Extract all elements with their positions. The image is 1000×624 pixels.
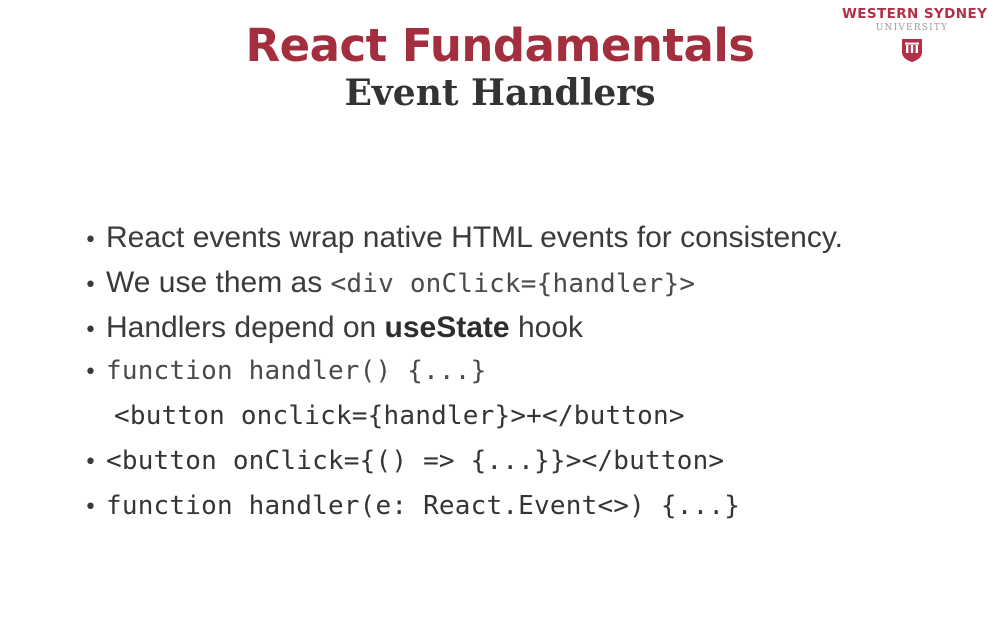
logo-primary-text: WESTERN SYDNEY: [842, 8, 982, 22]
text-span: useState: [385, 311, 510, 344]
bullet-text: React events wrap native HTML events for…: [106, 221, 843, 255]
bullet-text: <button onClick={() => {...}}></button>: [106, 446, 724, 476]
code-span: function handler(e: React.Event<>) {...}: [106, 491, 740, 521]
text-span: Handlers depend on: [106, 311, 385, 344]
bullet-marker-placeholder: •: [84, 407, 106, 429]
code-span: <button onclick={handler}>+</button>: [114, 401, 685, 431]
slide-root: WESTERN SYDNEY UNIVERSITY React Fundamen…: [0, 0, 1000, 624]
bullet-line: •<button onclick={handler}>+</button>: [84, 401, 964, 446]
bullet-line: •function handler() {...}: [84, 356, 964, 401]
bullet-list: •React events wrap native HTML events fo…: [84, 221, 964, 536]
bullet-marker-icon: •: [84, 275, 106, 297]
bullet-marker-icon: •: [84, 497, 106, 519]
bullet-line: •React events wrap native HTML events fo…: [84, 221, 964, 266]
bullet-line: •function handler(e: React.Event<>) {...…: [84, 491, 964, 536]
bullet-marker-icon: •: [84, 320, 106, 342]
bullet-text: <button onclick={handler}>+</button>: [106, 401, 685, 431]
title-block: React Fundamentals Event Handlers: [0, 22, 1000, 115]
text-span: React events wrap native HTML events for…: [106, 221, 843, 254]
text-span: hook: [510, 311, 583, 344]
page-subtitle: Event Handlers: [0, 73, 1000, 114]
bullet-text: function handler() {...}: [106, 356, 486, 386]
bullet-line: •<button onClick={() => {...}}></button>: [84, 446, 964, 491]
bullet-marker-icon: •: [84, 230, 106, 252]
text-span: We use them as: [106, 266, 331, 299]
bullet-marker-icon: •: [84, 362, 106, 384]
bullet-line: •Handlers depend on useState hook: [84, 311, 964, 356]
bullet-marker-icon: •: [84, 452, 106, 474]
code-span: <div onClick={handler}>: [331, 269, 696, 299]
code-span: function handler() {...}: [106, 356, 486, 386]
bullet-text: function handler(e: React.Event<>) {...}: [106, 491, 740, 521]
bullet-text: We use them as <div onClick={handler}>: [106, 266, 695, 300]
code-span: <button onClick={() => {...}}></button>: [106, 446, 724, 476]
bullet-line: •We use them as <div onClick={handler}>: [84, 266, 964, 311]
bullet-text: Handlers depend on useState hook: [106, 311, 583, 345]
page-title: React Fundamentals: [0, 22, 1000, 69]
